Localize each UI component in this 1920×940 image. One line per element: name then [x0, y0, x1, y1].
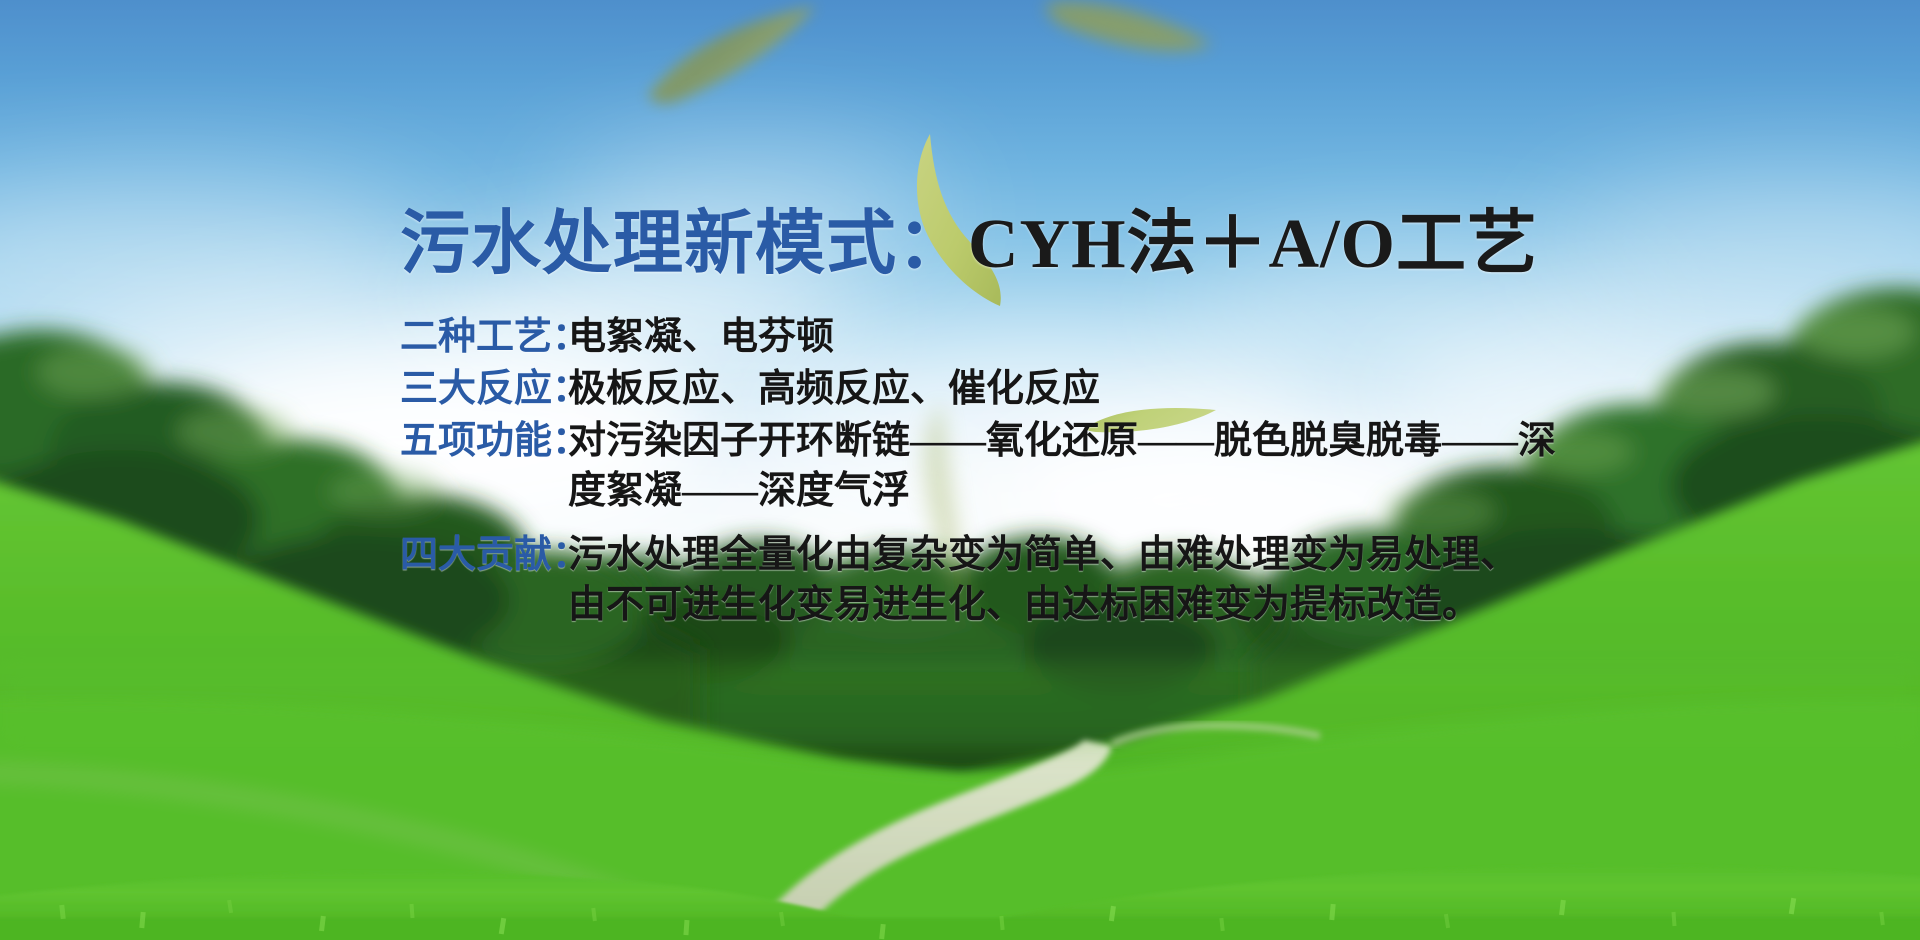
list-item-value-line: 对污染因子开环断链——氧化还原——脱色脱臭脱毒——深	[568, 416, 1580, 466]
slide-bullet-list: 二种工艺： 电絮凝、电芬顿 三大反应： 极板反应、高频反应、催化反应 五项功能：…	[400, 312, 1580, 630]
list-spacer	[400, 520, 1580, 530]
list-item-label: 三大反应：	[400, 364, 568, 414]
winding-dirt-path	[0, 725, 1320, 940]
slide-canvas: 污水处理新模式：CYH法＋A/O工艺 二种工艺： 电絮凝、电芬顿 三大反应： 极…	[0, 0, 1920, 940]
mid-meadow	[0, 698, 1920, 940]
slide-text-block: 污水处理新模式：CYH法＋A/O工艺 二种工艺： 电絮凝、电芬顿 三大反应： 极…	[400, 210, 1580, 634]
list-item-value-line: 电絮凝、电芬顿	[568, 312, 1580, 362]
list-item: 五项功能： 对污染因子开环断链——氧化还原——脱色脱臭脱毒——深 度絮凝——深度…	[400, 416, 1580, 516]
list-item-value-line: 由不可进生化变易进生化、由达标困难变为提标改造。	[568, 580, 1580, 630]
list-item-value: 极板反应、高频反应、催化反应	[568, 364, 1580, 414]
list-item-value: 电絮凝、电芬顿	[568, 312, 1580, 362]
list-item-value: 对污染因子开环断链——氧化还原——脱色脱臭脱毒——深 度絮凝——深度气浮	[568, 416, 1580, 516]
foreground-grass	[0, 866, 1920, 940]
list-item-value-line: 污水处理全量化由复杂变为简单、由难处理变为易处理、	[568, 530, 1580, 580]
list-item-label: 四大贡献：	[400, 530, 568, 580]
slide-title-dark-part: CYH法＋A/O工艺	[968, 206, 1538, 283]
list-item-label: 二种工艺：	[400, 312, 568, 362]
list-item: 四大贡献： 污水处理全量化由复杂变为简单、由难处理变为易处理、 由不可进生化变易…	[400, 530, 1580, 630]
list-item-label: 五项功能：	[400, 416, 568, 466]
slide-title-blue-part: 污水处理新模式：	[400, 206, 968, 283]
list-item-value: 污水处理全量化由复杂变为简单、由难处理变为易处理、 由不可进生化变易进生化、由达…	[568, 530, 1580, 630]
list-item-value-line: 极板反应、高频反应、催化反应	[568, 364, 1580, 414]
list-item-value-line: 度絮凝——深度气浮	[568, 466, 1580, 516]
slide-title: 污水处理新模式：CYH法＋A/O工艺	[400, 210, 1580, 280]
list-item: 二种工艺： 电絮凝、电芬顿	[400, 312, 1580, 362]
list-item: 三大反应： 极板反应、高频反应、催化反应	[400, 364, 1580, 414]
